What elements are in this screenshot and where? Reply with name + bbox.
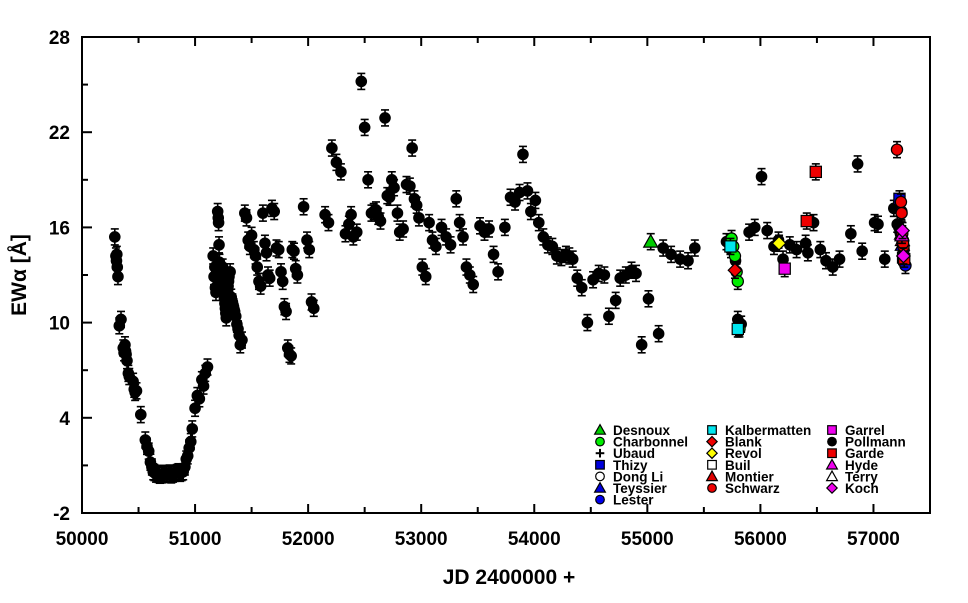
- x-tick-label: 57000: [847, 529, 900, 550]
- y-tick-label: 4: [59, 409, 70, 430]
- ew-alpha-time-series-plot: 5000051000520005300054000550005600057000…: [0, 0, 968, 603]
- y-axis-title: EWα [Å]: [7, 234, 31, 316]
- y-tick-label: 10: [49, 314, 70, 335]
- legend-label: Schwarz: [725, 481, 780, 496]
- chart-canvas: 5000051000520005300054000550005600057000…: [0, 0, 968, 603]
- legend-label: Lester: [613, 493, 654, 508]
- x-tick-label: 56000: [734, 529, 787, 550]
- x-tick-label: 51000: [169, 529, 222, 550]
- series-garrel: [779, 261, 790, 277]
- x-axis-title: JD 2400000 +: [443, 566, 576, 589]
- x-tick-label: 52000: [282, 529, 335, 550]
- y-tick-label: -2: [53, 504, 70, 525]
- x-tick-label: 53000: [395, 529, 448, 550]
- legend-label: Koch: [845, 481, 879, 496]
- y-tick-label: 16: [49, 218, 70, 239]
- x-tick-label: 54000: [508, 529, 561, 550]
- y-tick-label: 22: [49, 123, 70, 144]
- x-tick-label: 50000: [56, 529, 109, 550]
- y-tick-label: 28: [49, 28, 70, 49]
- chart-legend: DesnouxCharbonnelUbaudThizyDong LiTeyssi…: [595, 423, 906, 508]
- x-tick-label: 55000: [621, 529, 674, 550]
